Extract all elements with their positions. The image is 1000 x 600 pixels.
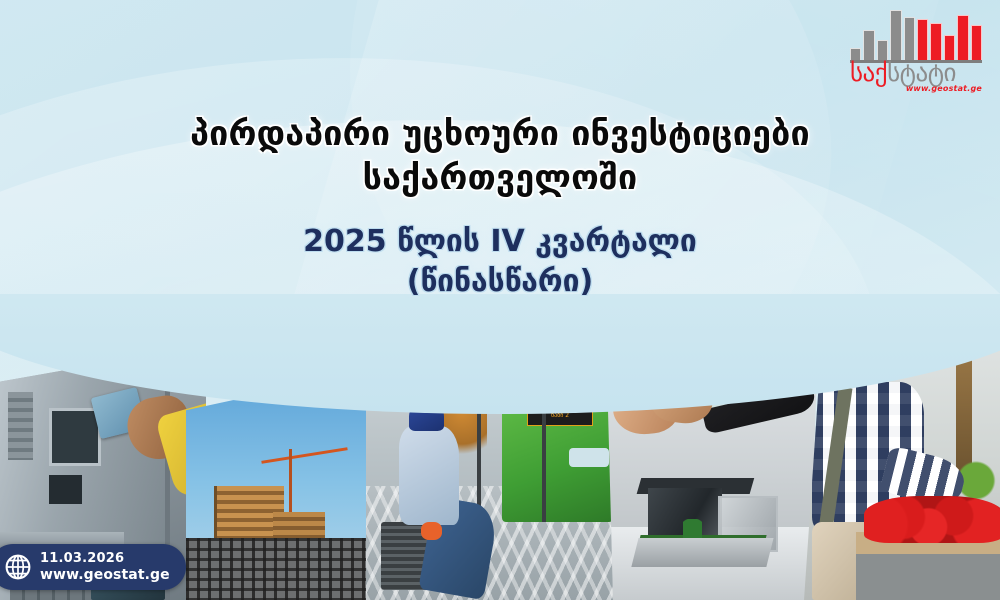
logo-bar xyxy=(863,30,874,60)
globe-icon xyxy=(4,553,32,581)
bus-stop-pole-left xyxy=(477,361,481,522)
poster-canvas: საქსტატი www.geostat.ge პირდაპირი უცხოურ… xyxy=(0,0,1000,600)
logo-bar xyxy=(904,17,915,60)
scaffolding xyxy=(186,538,384,600)
photo-farmers-market xyxy=(800,340,1000,600)
atm-screen xyxy=(49,408,100,466)
bus-destination-sign: ხაზი 2 xyxy=(527,410,593,426)
logo-bar xyxy=(930,23,941,60)
photo-handshake-house-model xyxy=(600,340,818,600)
logo-wordmark-gray: სტატი xyxy=(887,58,956,87)
bus-stop-pole-right xyxy=(542,361,546,522)
logo-url[interactable]: www.geostat.ge xyxy=(906,84,982,93)
photo-bus-stop: ხაზი 2 xyxy=(366,340,618,600)
logo-wordmark-red: საქ xyxy=(850,58,887,87)
atm-card-slot xyxy=(49,475,82,504)
geostat-logo[interactable]: საქსტატი www.geostat.ge xyxy=(846,8,986,94)
photo-construction-site xyxy=(186,340,384,600)
sub-title-line-1: 2025 წლის IV კვარტალი xyxy=(0,222,1000,262)
bus-windshield xyxy=(569,448,609,467)
atm-side-keys xyxy=(8,392,33,460)
footer-badge[interactable]: 11.03.2026 www.geostat.ge xyxy=(0,544,186,590)
tomatoes-pile xyxy=(864,496,1000,543)
seated-person-orange-glove xyxy=(421,522,441,540)
logo-bar xyxy=(944,35,955,60)
logo-bar xyxy=(971,25,982,60)
main-title-line-2: საქართველოში xyxy=(0,156,1000,200)
bus-destination-text: ხაზი 2 xyxy=(527,410,593,426)
logo-wordmark: საქსტატი xyxy=(850,60,982,85)
seated-person-jacket xyxy=(399,426,459,525)
title-block: პირდაპირი უცხოური ინვესტიციები საქართველ… xyxy=(0,112,1000,302)
badge-url[interactable]: www.geostat.ge xyxy=(40,567,170,584)
logo-bar-chart-icon xyxy=(850,10,982,63)
tower-crane-jib xyxy=(262,448,349,465)
seated-person-blue-hat xyxy=(409,402,444,431)
logo-bar xyxy=(877,40,888,60)
market-stall-post xyxy=(956,340,972,475)
sub-title-line-2: (წინასწარი) xyxy=(0,262,1000,302)
logo-bar xyxy=(957,15,968,60)
logo-bar xyxy=(890,10,901,60)
house-model-base xyxy=(631,538,773,567)
badge-date: 11.03.2026 xyxy=(40,551,170,567)
main-title-line-1: პირდაპირი უცხოური ინვესტიციები xyxy=(0,112,1000,156)
logo-bar xyxy=(917,19,928,60)
